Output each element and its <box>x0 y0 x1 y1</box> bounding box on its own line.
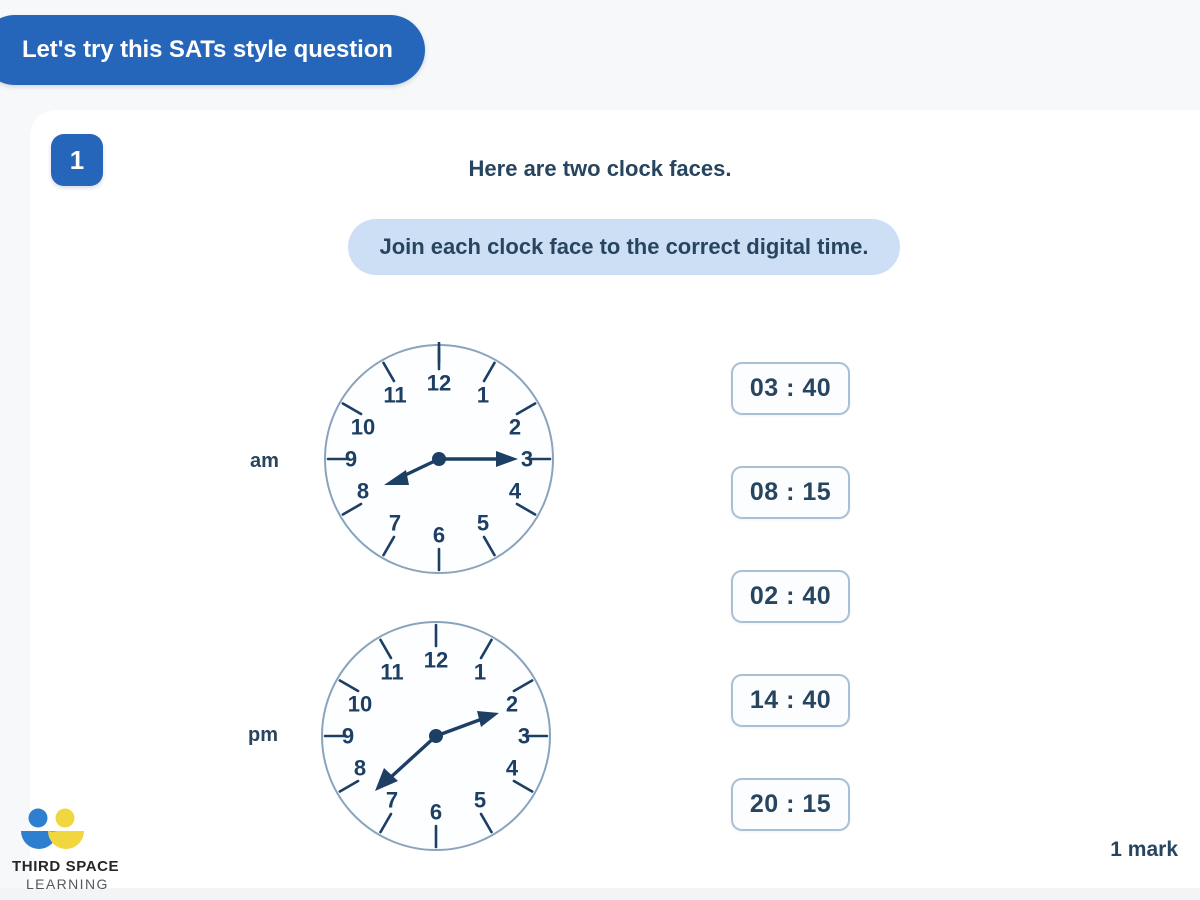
clock-face-pm-svg: 12 1 2 3 4 5 6 7 8 9 10 11 <box>319 619 553 853</box>
header-banner: Let's try this SATs style question <box>0 15 425 85</box>
instruction-text: Join each clock face to the correct digi… <box>379 234 868 260</box>
digital-time-label: 08 : 15 <box>750 478 831 507</box>
svg-text:1: 1 <box>477 383 489 408</box>
clock-center-pivot <box>429 729 443 743</box>
brand-logo: THIRD SPACE LEARNING <box>12 806 119 892</box>
digital-time-label: 14 : 40 <box>750 686 831 715</box>
logo-text-line1: THIRD SPACE <box>12 858 119 875</box>
svg-text:2: 2 <box>506 692 518 717</box>
question-prompt: Here are two clock faces. <box>0 156 1200 182</box>
svg-text:12: 12 <box>427 371 451 396</box>
digital-time-label: 02 : 40 <box>750 582 831 611</box>
clock-face-pm[interactable]: 12 1 2 3 4 5 6 7 8 9 10 11 <box>319 619 553 853</box>
logo-text-line2: LEARNING <box>26 876 119 892</box>
svg-text:6: 6 <box>430 800 442 825</box>
svg-text:9: 9 <box>345 447 357 472</box>
svg-text:12: 12 <box>424 648 448 673</box>
svg-text:1: 1 <box>474 660 486 685</box>
svg-text:5: 5 <box>477 511 489 536</box>
digital-time-options: 03 : 40 08 : 15 02 : 40 14 : 40 20 : 15 <box>731 362 850 831</box>
digital-time-option-0[interactable]: 03 : 40 <box>731 362 850 415</box>
marks-label: 1 mark <box>1110 838 1178 862</box>
clock-am-label: am <box>250 450 279 473</box>
question-number-badge: 1 <box>51 134 103 186</box>
digital-time-option-4[interactable]: 20 : 15 <box>731 778 850 831</box>
third-space-learning-logo-icon <box>12 806 92 856</box>
svg-text:10: 10 <box>348 692 372 717</box>
clock-face-am-svg: 12 1 2 3 4 5 6 7 8 9 10 11 <box>322 342 556 576</box>
digital-time-label: 20 : 15 <box>750 790 831 819</box>
svg-text:3: 3 <box>521 447 533 472</box>
svg-text:4: 4 <box>506 756 519 781</box>
bottom-strip <box>0 888 1200 900</box>
clock-center-pivot <box>432 452 446 466</box>
svg-text:9: 9 <box>342 724 354 749</box>
svg-text:10: 10 <box>351 415 375 440</box>
digital-time-option-1[interactable]: 08 : 15 <box>731 466 850 519</box>
svg-text:5: 5 <box>474 788 486 813</box>
digital-time-option-2[interactable]: 02 : 40 <box>731 570 850 623</box>
header-title: Let's try this SATs style question <box>22 36 393 64</box>
page-root: Let's try this SATs style question 1 Her… <box>0 0 1200 900</box>
svg-text:2: 2 <box>509 415 521 440</box>
svg-text:7: 7 <box>386 788 398 813</box>
question-number-label: 1 <box>70 147 84 173</box>
svg-text:11: 11 <box>383 383 406 408</box>
clock-pm-label: pm <box>248 724 278 747</box>
digital-time-option-3[interactable]: 14 : 40 <box>731 674 850 727</box>
svg-text:3: 3 <box>518 724 530 749</box>
svg-text:6: 6 <box>433 523 445 548</box>
svg-text:8: 8 <box>357 479 369 504</box>
svg-text:7: 7 <box>389 511 401 536</box>
svg-text:4: 4 <box>509 479 522 504</box>
digital-time-label: 03 : 40 <box>750 374 831 403</box>
instruction-pill: Join each clock face to the correct digi… <box>348 219 900 275</box>
svg-text:8: 8 <box>354 756 366 781</box>
clock-face-am[interactable]: 12 1 2 3 4 5 6 7 8 9 10 11 <box>322 342 556 576</box>
svg-text:11: 11 <box>380 660 403 685</box>
